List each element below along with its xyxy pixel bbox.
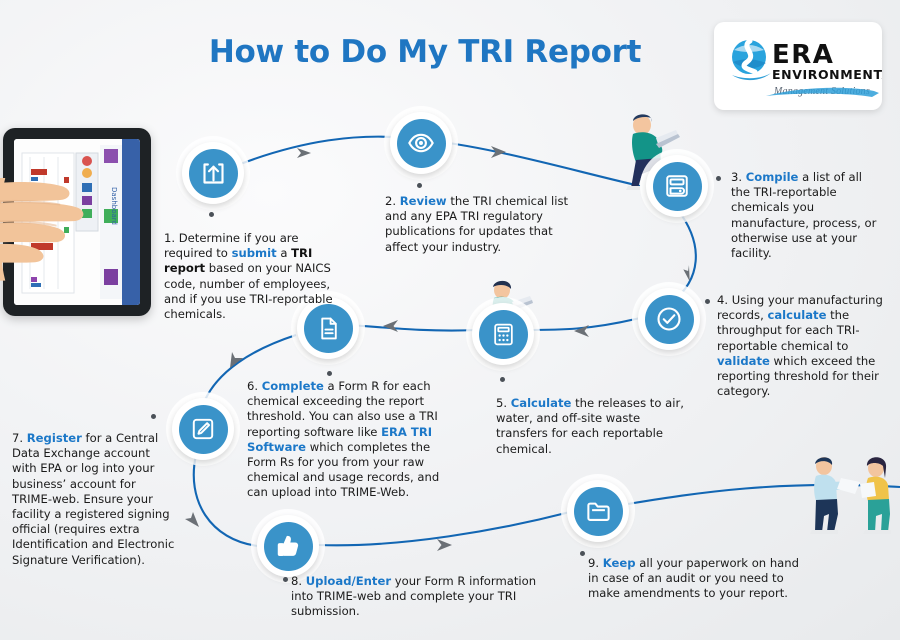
step-text-7: 7. Register for a Central Data Exchange … <box>12 431 178 568</box>
bullet-dot <box>151 414 156 419</box>
step-icon-3[interactable] <box>646 155 708 217</box>
step-text-6: 6. Complete a Form R for each chemical e… <box>247 379 443 501</box>
edit-pencil-icon <box>179 405 228 454</box>
step-text-1: 1. Determine if you are required to subm… <box>164 231 342 322</box>
bullet-dot <box>283 577 288 582</box>
bullet-dot <box>705 299 710 304</box>
upload-icon <box>189 149 238 198</box>
step-icon-8[interactable] <box>257 515 319 577</box>
step-icon-5[interactable] <box>472 303 534 365</box>
step-text-4: 4. Using your manufacturing records, cal… <box>717 293 883 399</box>
step-text-2: 2. Review the TRI chemical list and any … <box>385 194 589 255</box>
check-circle-icon <box>645 295 694 344</box>
calculator-icon <box>479 310 528 359</box>
step-icon-7[interactable] <box>172 398 234 460</box>
bullet-dot <box>716 176 721 181</box>
step-icon-2[interactable] <box>390 112 452 174</box>
bullet-dot <box>327 371 332 376</box>
step-icon-4[interactable] <box>638 288 700 350</box>
two-people-with-documents <box>800 452 898 538</box>
bullet-dot <box>209 212 214 217</box>
bullet-dot <box>417 183 422 188</box>
eye-icon <box>397 119 446 168</box>
step-icon-9[interactable] <box>567 480 629 542</box>
bullet-dot <box>580 551 585 556</box>
bullet-dot <box>500 377 505 382</box>
step-text-9: 9. Keep all your paperwork on hand in ca… <box>588 556 810 602</box>
thumbs-up-icon <box>264 522 313 571</box>
step-text-8: 8. Upload/Enter your Form R information … <box>291 574 543 620</box>
folder-icon <box>574 487 623 536</box>
step-text-3: 3. Compile a list of all the TRI-reporta… <box>731 170 883 261</box>
card-wallet-icon <box>653 162 702 211</box>
step-text-5: 5. Calculate the releases to air, water,… <box>496 396 686 457</box>
infographic-canvas: How to Do My TRI Report ERA ENVIRONMENTA… <box>0 0 900 640</box>
step-icon-1[interactable] <box>182 142 244 204</box>
hand-holding-tablet <box>0 178 112 288</box>
